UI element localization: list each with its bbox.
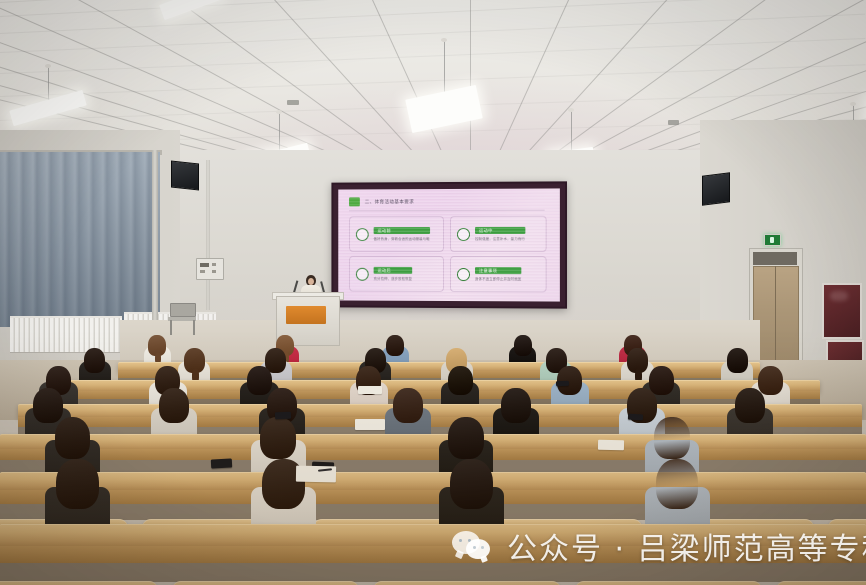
slide-title: 二、体育活动基本要求	[365, 199, 414, 205]
wall-speaker	[171, 161, 199, 191]
desk-item-phone	[211, 458, 232, 468]
projection-screen[interactable]: 二、体育活动基本要求 运动前做好热身，穿着合适的运动服装与鞋运动中控制强度，注意…	[331, 181, 567, 308]
card-caption: 身体不适立即停止并及时就医	[475, 276, 521, 281]
audience-head	[735, 388, 765, 423]
wall-pipe	[206, 160, 210, 310]
light-suspension-rod	[48, 66, 49, 100]
slide-card-grid: 运动前做好热身，穿着合适的运动服装与鞋运动中控制强度，注意补水，量力而行运动后充…	[349, 216, 547, 293]
slide-card: 注意事项身体不适立即停止并及时就医	[450, 256, 547, 292]
card-circle-icon	[457, 268, 470, 281]
seat-back[interactable]	[575, 581, 763, 585]
slide-header-rule	[349, 210, 545, 212]
rod-ceiling-mount	[568, 108, 574, 112]
audience-head	[386, 335, 404, 356]
exit-sign-icon	[764, 234, 781, 246]
slide-card: 运动前做好热身，穿着合适的运动服装与鞋	[349, 216, 444, 252]
card-circle-icon	[457, 227, 470, 240]
card-caption: 控制强度，注意补水，量力而行	[475, 236, 525, 241]
seat-back[interactable]	[0, 581, 158, 585]
rod-ceiling-mount	[276, 110, 282, 114]
lecture-desk	[0, 524, 866, 547]
audience-head	[654, 417, 690, 459]
lecture-desk	[0, 472, 866, 491]
card-label: 运动中	[475, 227, 525, 234]
audience-head	[514, 335, 532, 356]
folding-chair[interactable]	[166, 303, 198, 335]
under-desk-shadow	[0, 563, 866, 583]
light-suspension-rod	[444, 40, 445, 92]
card-label: 注意事项	[475, 267, 521, 274]
card-label: 运动后	[374, 267, 413, 274]
ceiling-sensor-icon	[668, 120, 679, 125]
lectern-front-panel	[286, 306, 326, 324]
green-square-icon	[349, 197, 360, 206]
wall-control-panel[interactable]	[196, 258, 224, 280]
audience-head	[247, 366, 272, 396]
audience-head	[649, 366, 674, 396]
door-transom	[753, 252, 797, 265]
audience-head	[159, 388, 189, 423]
ceiling-sensor-icon	[287, 100, 299, 105]
fire-hose-cabinet[interactable]	[822, 283, 862, 339]
audience-head	[727, 348, 748, 373]
rod-ceiling-mount	[850, 102, 856, 106]
desk-item-notebook	[355, 419, 385, 430]
audience-head	[56, 459, 99, 509]
curtain-shading	[0, 152, 160, 327]
wall-speaker	[702, 172, 730, 205]
presentation-slide: 二、体育活动基本要求 运动前做好热身，穿着合适的运动服装与鞋运动中控制强度，注意…	[338, 188, 560, 301]
rod-ceiling-mount	[441, 38, 447, 42]
desk-item-phone	[275, 412, 291, 420]
desk-item-phone	[556, 381, 569, 386]
card-circle-icon	[356, 267, 369, 280]
audience-head	[448, 417, 484, 459]
wall-pipe	[152, 150, 158, 330]
card-circle-icon	[356, 228, 369, 241]
seat-back[interactable]	[776, 581, 866, 585]
under-desk-shadow	[0, 504, 866, 520]
audience-head	[393, 388, 423, 423]
seat-back[interactable]	[373, 581, 561, 585]
audience-head	[33, 388, 63, 423]
seat-back[interactable]	[172, 581, 360, 585]
desk-item-phone	[628, 414, 643, 421]
radiator	[10, 316, 122, 353]
desk-item-notebook	[598, 440, 624, 450]
card-label: 运动前	[374, 227, 430, 234]
light-suspension-rod	[571, 110, 572, 150]
desk-front-panel	[0, 490, 866, 504]
audience-head	[448, 366, 473, 396]
audience-head	[450, 459, 493, 509]
audience-head	[501, 388, 531, 423]
slide-header: 二、体育活动基本要求	[349, 197, 414, 206]
desk-front-panel	[0, 546, 866, 563]
door-center-split	[775, 266, 776, 362]
light-suspension-rod	[279, 112, 280, 150]
audience-head	[84, 348, 105, 373]
slide-card: 运动中控制强度，注意补水，量力而行	[450, 216, 547, 252]
rod-ceiling-mount	[45, 64, 51, 68]
card-caption: 充分拉伸，逐步放松恢复	[374, 276, 413, 281]
audience-head	[758, 366, 783, 396]
lecture-hall-photo: 二、体育活动基本要求 运动前做好热身，穿着合适的运动服装与鞋运动中控制强度，注意…	[0, 0, 866, 585]
card-caption: 做好热身，穿着合适的运动服装与鞋	[374, 236, 430, 241]
desk-front-panel	[0, 449, 866, 460]
slide-card: 运动后充分拉伸，逐步放松恢复	[349, 256, 444, 292]
audience-head	[55, 417, 91, 459]
audience-head	[656, 459, 699, 509]
audience-head	[260, 417, 296, 459]
desk-item-notebook	[358, 386, 382, 394]
lecture-desk	[0, 434, 866, 450]
presenter-face	[308, 278, 314, 285]
